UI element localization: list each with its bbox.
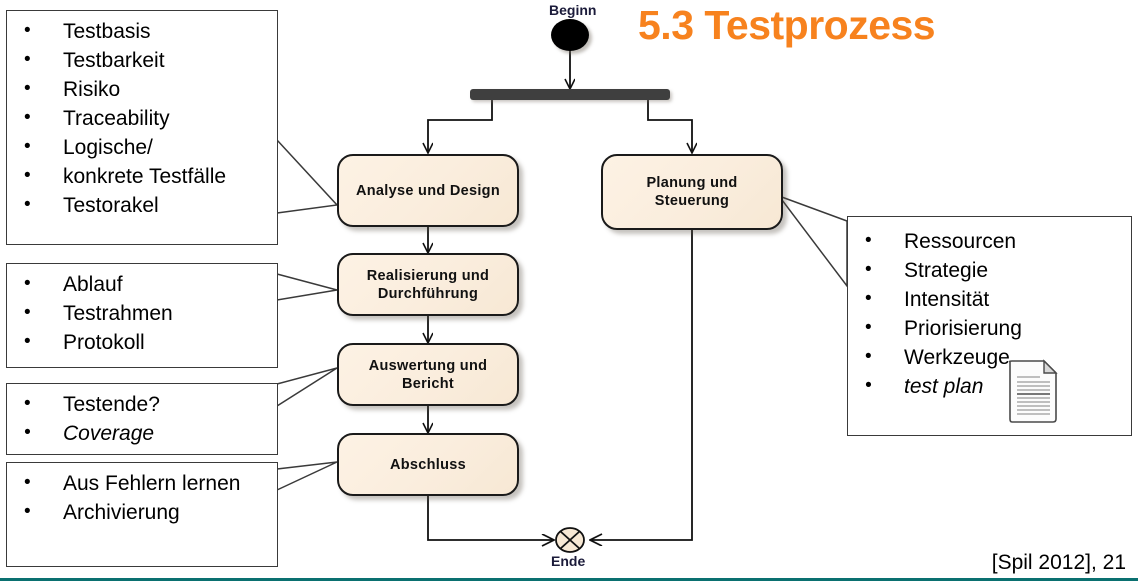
- end-node-label: Ende: [551, 553, 585, 569]
- callout-tail-realisierung: [277, 274, 337, 300]
- list-item: test plan: [848, 372, 1131, 401]
- list-item: Werkzeuge: [848, 343, 1131, 372]
- activity-label-analyse: Analyse und Design: [356, 182, 500, 200]
- note-list-planung: Ressourcen Strategie Intensität Priorisi…: [848, 227, 1131, 401]
- activity-label-abschluss: Abschluss: [390, 456, 466, 474]
- source-reference: [Spil 2012], 21: [992, 551, 1126, 575]
- list-item: Traceability: [7, 104, 277, 133]
- activity-label-line2: Bericht: [402, 376, 454, 392]
- flow-planung-to-ende: [591, 230, 692, 540]
- list-item: Testorakel: [7, 191, 277, 220]
- activity-label-line1: Auswertung und: [369, 358, 488, 374]
- activity-label-planung: Planung und Steuerung: [646, 174, 737, 210]
- fork-bar: [470, 89, 670, 100]
- note-box-realisierung[interactable]: Ablauf Testrahmen Protokoll: [6, 263, 278, 368]
- list-item-continuation: konkrete Testfälle: [7, 162, 277, 191]
- note-box-auswertung[interactable]: Testende? Coverage: [6, 383, 278, 455]
- note-list-abschluss: Aus Fehlern lernen Archivierung: [7, 469, 277, 527]
- activity-label-auswertung: Auswertung und Bericht: [369, 357, 488, 393]
- note-list-realisierung: Ablauf Testrahmen Protokoll: [7, 270, 277, 357]
- activity-node-auswertung[interactable]: Auswertung und Bericht: [337, 343, 519, 406]
- list-item: Priorisierung: [848, 314, 1131, 343]
- activity-node-analyse[interactable]: Analyse und Design: [337, 154, 519, 227]
- list-item: Ressourcen: [848, 227, 1131, 256]
- activity-node-realisierung[interactable]: Realisierung und Durchführung: [337, 253, 519, 316]
- document-icon: [1006, 359, 1060, 425]
- flow-fork-to-planung: [648, 100, 692, 152]
- flow-abschluss-to-ende: [428, 496, 553, 540]
- list-item: Protokoll: [7, 328, 277, 357]
- list-item: Testbasis: [7, 17, 277, 46]
- slide-canvas: 5.3 Testprozess: [0, 0, 1138, 586]
- note-list-analyse: Testbasis Testbarkeit Risiko Traceabilit…: [7, 17, 277, 220]
- list-item: Coverage: [7, 419, 277, 448]
- activity-label-line1: Realisierung und: [367, 268, 489, 284]
- activity-label-realisierung: Realisierung und Durchführung: [367, 267, 489, 303]
- list-item: Testende?: [7, 390, 277, 419]
- list-item: Ablauf: [7, 270, 277, 299]
- activity-label-line2: Steuerung: [655, 193, 729, 209]
- activity-node-planung[interactable]: Planung und Steuerung: [601, 154, 783, 230]
- initial-node-icon: [551, 19, 589, 51]
- callout-tail-auswertung: [277, 368, 337, 406]
- activity-label-line2: Durchführung: [378, 286, 478, 302]
- note-box-analyse[interactable]: Testbasis Testbarkeit Risiko Traceabilit…: [6, 10, 278, 245]
- list-item: Testrahmen: [7, 299, 277, 328]
- list-item: Risiko: [7, 75, 277, 104]
- footer-divider: [0, 578, 1138, 581]
- list-item: Intensität: [848, 285, 1131, 314]
- note-box-planung[interactable]: Ressourcen Strategie Intensität Priorisi…: [847, 216, 1132, 436]
- activity-label-line1: Planung und: [646, 175, 737, 191]
- callout-tail-abschluss: [277, 462, 337, 490]
- callout-tail-planung: [779, 196, 847, 286]
- flow-final-node-icon: [554, 525, 586, 553]
- note-list-auswertung: Testende? Coverage: [7, 390, 277, 448]
- list-item: Testbarkeit: [7, 46, 277, 75]
- list-item: Archivierung: [7, 498, 277, 527]
- list-item: Aus Fehlern lernen: [7, 469, 277, 498]
- activity-node-abschluss[interactable]: Abschluss: [337, 433, 519, 496]
- note-box-abschluss[interactable]: Aus Fehlern lernen Archivierung: [6, 462, 278, 567]
- page-title: 5.3 Testprozess: [638, 2, 935, 49]
- flow-fork-to-analyse: [428, 100, 492, 152]
- list-item: Logische/: [7, 133, 277, 162]
- callout-tail-analyse: [277, 140, 337, 213]
- list-item: Strategie: [848, 256, 1131, 285]
- start-node-label: Beginn: [549, 2, 596, 18]
